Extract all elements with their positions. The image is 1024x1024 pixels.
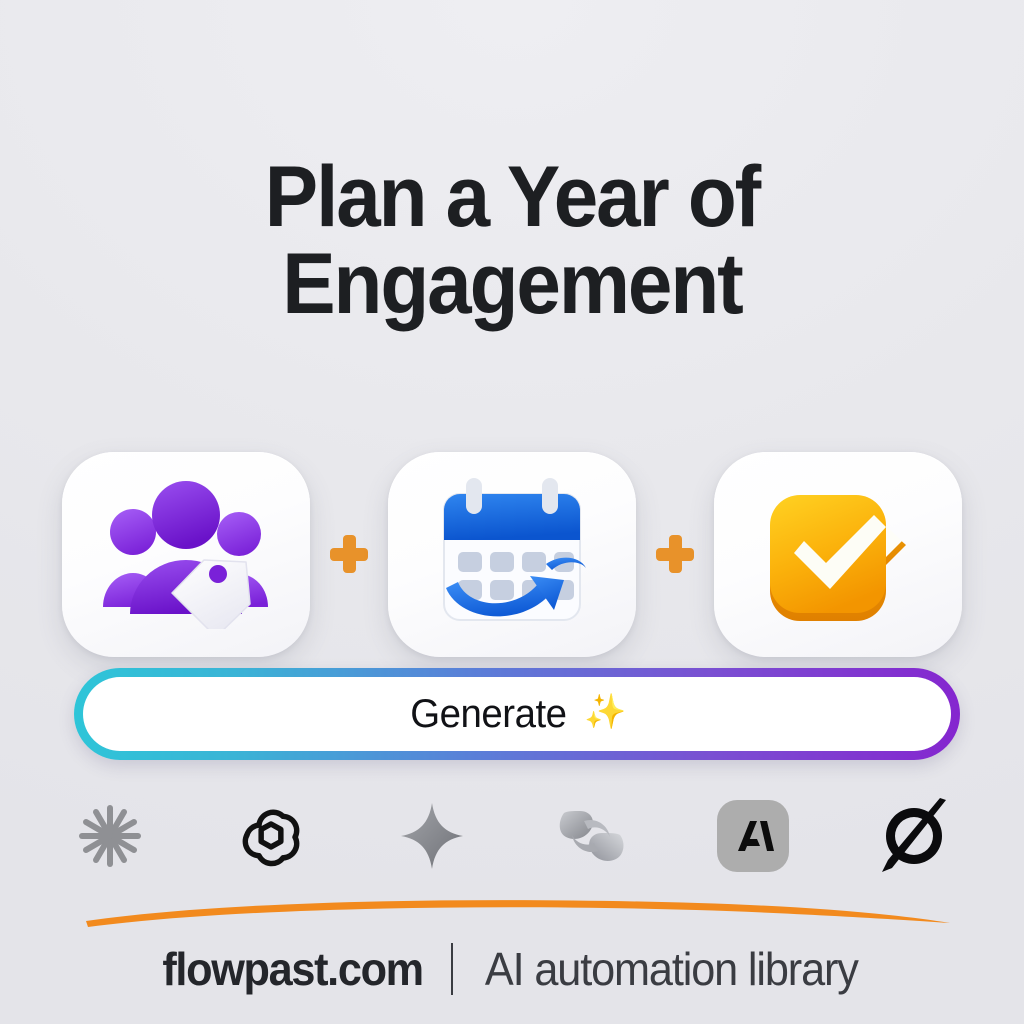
plus-separator-2 (652, 531, 698, 577)
anthropic-claude-icon (716, 799, 790, 873)
workflow-card-content-calendar[interactable] (388, 452, 636, 657)
footer: flowpast.com AI automation library (0, 930, 1024, 1008)
ai-logo-copilot (544, 790, 640, 882)
checkmark-chevron-icon (754, 479, 922, 629)
gemini-sparkle-icon (399, 801, 465, 871)
generate-button-inner: Generate ✨ (83, 677, 951, 751)
footer-divider (451, 943, 453, 995)
workflow-card-row (62, 448, 962, 660)
plus-separator-1 (326, 531, 372, 577)
promo-poster: Plan a Year of Engagement (0, 0, 1024, 1024)
ai-logo-anthropic (705, 790, 801, 882)
ai-logo-grok (866, 790, 962, 882)
footer-tagline: AI automation library (485, 942, 858, 996)
headline-line-1: Plan a Year of (36, 154, 988, 242)
footer-brand[interactable]: flowpast.com (162, 942, 422, 996)
ai-logo-perplexity (62, 790, 158, 882)
ai-logo-openai (223, 790, 319, 882)
workflow-card-audience-segments[interactable] (62, 452, 310, 657)
sparkles-icon: ✨ (584, 695, 626, 729)
calendar-refresh-arrow-icon (430, 476, 594, 632)
perplexity-starburst-icon (78, 804, 142, 868)
grok-slash-icon (876, 798, 952, 874)
generate-button[interactable]: Generate ✨ (74, 668, 960, 760)
ai-logo-strip (62, 790, 962, 882)
page-title: Plan a Year of Engagement (36, 154, 988, 329)
workflow-card-task-approval[interactable] (714, 452, 962, 657)
generate-button-label: Generate (411, 692, 567, 737)
copilot-ribbon-icon (554, 803, 630, 869)
openai-knot-icon (236, 801, 306, 871)
ai-logo-gemini (384, 790, 480, 882)
people-group-tag-icon (100, 479, 272, 629)
headline-line-2: Engagement (36, 241, 988, 329)
